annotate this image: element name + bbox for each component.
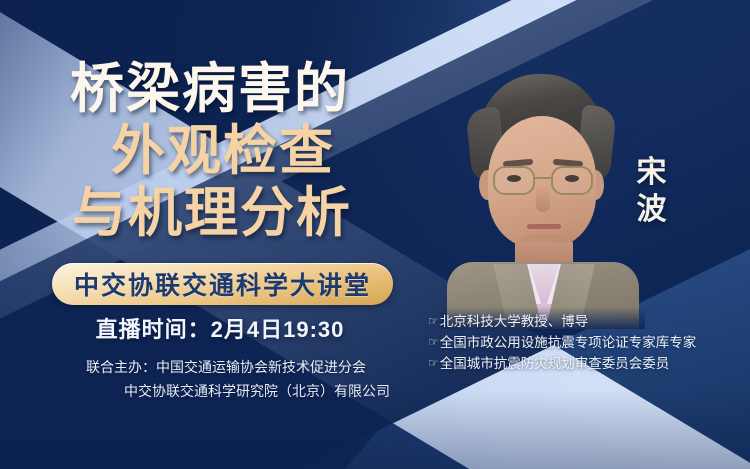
speaker-name-char-2: 波: [632, 192, 672, 229]
credential-text: 全国城市抗震防灾规划审查委员会委员: [440, 354, 746, 375]
eyeglass-bridge: [535, 177, 551, 179]
pointing-hand-icon: ☞: [428, 333, 439, 352]
title-line-1: 桥梁病害的: [0, 62, 420, 116]
credential-text: 全国市政公用设施抗震专项论证专家库专家: [440, 333, 746, 354]
live-time: 直播时间：2月4日19:30: [0, 312, 440, 344]
credential-row: ☞ 全国城市抗震防灾规划审查委员会委员: [428, 354, 746, 375]
poster-title: 桥梁病害的 外观检查 与机理分析: [0, 62, 420, 248]
series-badge: 中交协联交通科学大讲堂: [52, 263, 393, 305]
pointing-hand-icon: ☞: [428, 312, 439, 331]
eyeglass-lens-right: [551, 166, 593, 195]
eyeglass-lens-left: [493, 166, 535, 195]
speaker-credentials: ☞ 北京科技大学教授、博导 ☞ 全国市政公用设施抗震专项论证专家库专家 ☞ 全国…: [428, 312, 746, 375]
credential-row: ☞ 全国市政公用设施抗震专项论证专家库专家: [428, 333, 746, 354]
organizers-block: 联合主办：中国交通运输协会新技术促进分会 中交协联交通科学研究院（北京）有限公司: [0, 356, 452, 404]
speaker-portrait: [441, 74, 645, 329]
webinar-poster: 桥梁病害的 外观检查 与机理分析 中交协联交通科学大讲堂 直播时间：2月4日19…: [0, 0, 750, 469]
title-line-2: 外观检查: [26, 124, 420, 178]
credential-text: 北京科技大学教授、博导: [440, 312, 746, 333]
organizer-line-1: 联合主办：中国交通运输协会新技术促进分会: [0, 356, 452, 380]
portrait-mouth: [527, 224, 561, 229]
series-badge-label: 中交协联交通科学大讲堂: [74, 266, 371, 302]
credential-row: ☞ 北京科技大学教授、博导: [428, 312, 746, 333]
speaker-name-char-1: 宋: [632, 155, 672, 192]
speaker-name: 宋 波: [632, 155, 672, 228]
portrait-nose: [536, 186, 550, 212]
pointing-hand-icon: ☞: [428, 354, 439, 373]
organizer-line-2: 中交协联交通科学研究院（北京）有限公司: [0, 380, 452, 404]
title-line-3: 与机理分析: [4, 186, 420, 240]
